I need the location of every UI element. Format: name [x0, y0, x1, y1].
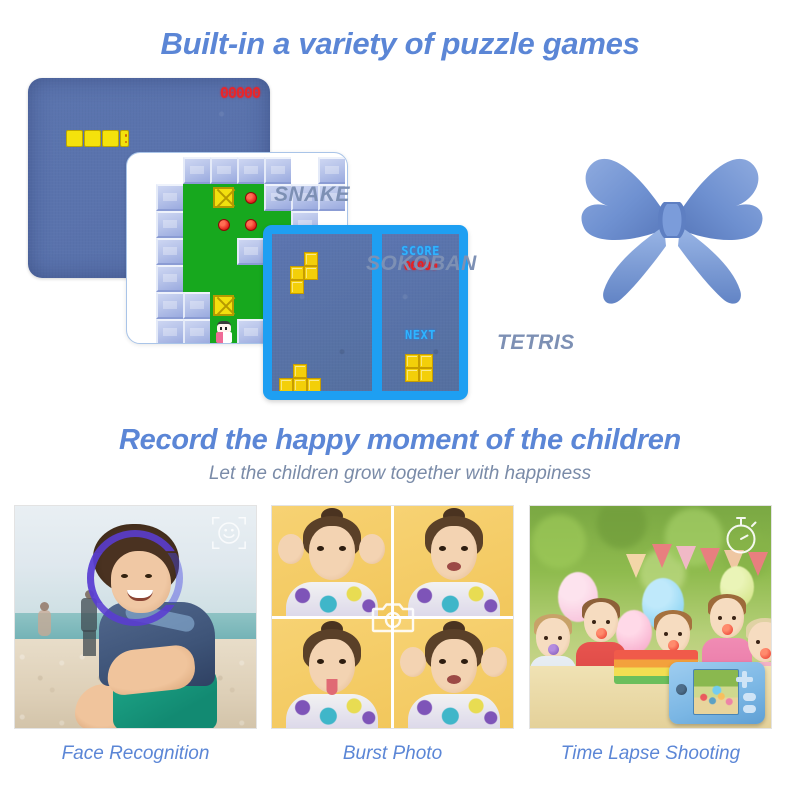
feature-cards: Face Recognition	[0, 505, 800, 795]
sokoban-crate	[213, 295, 234, 316]
grid-cell-wall	[210, 157, 237, 184]
kids-camera-device	[669, 662, 765, 724]
grid-cell-floor	[210, 319, 237, 344]
game-label-snake: SNAKE	[274, 183, 350, 207]
tetris-block	[279, 378, 293, 392]
grid-cell-floor	[183, 184, 210, 211]
grid-cell-wall	[156, 211, 183, 238]
caption-face-recognition: Face Recognition	[14, 743, 257, 765]
grid-cell-wall	[183, 319, 210, 344]
sokoban-target	[245, 192, 257, 204]
snake-score-value: 00000	[220, 84, 260, 102]
tetris-block	[304, 266, 318, 280]
device-screen-content	[694, 670, 738, 714]
grid-cell-floor	[237, 184, 264, 211]
device-lens-icon	[676, 684, 687, 695]
tetris-block	[304, 252, 318, 266]
grid-cell-floor	[237, 265, 264, 292]
grid-cell-floor	[210, 292, 237, 319]
photo-time-lapse	[529, 505, 772, 729]
snake-sprite	[66, 130, 129, 147]
snake-segment	[84, 130, 101, 147]
snake-segment	[102, 130, 119, 147]
tetris-block	[293, 364, 307, 378]
grid-cell-floor	[183, 238, 210, 265]
photo-burst	[271, 505, 514, 729]
promo-page: Built-in a variety of puzzle games 00000	[0, 0, 800, 800]
device-button[interactable]	[743, 693, 756, 701]
grid-cell-floor	[210, 265, 237, 292]
caption-burst-photo: Burst Photo	[271, 743, 514, 765]
tetris-next-block	[405, 368, 419, 382]
feature-card-face-recognition: Face Recognition	[14, 505, 257, 765]
tetris-block	[290, 266, 304, 280]
page-title-games: Built-in a variety of puzzle games	[0, 26, 800, 62]
tetris-playfield	[270, 232, 374, 393]
game-label-tetris: TETRIS	[497, 331, 575, 355]
grid-cell-floor	[210, 238, 237, 265]
tetris-next-block	[405, 354, 419, 368]
tetris-next-label: NEXT	[382, 328, 459, 342]
grid-cell-wall	[156, 184, 183, 211]
grid-cell-floor	[183, 265, 210, 292]
grid-cell-wall	[156, 319, 183, 344]
device-button[interactable]	[743, 705, 756, 713]
bow-icon	[568, 140, 778, 315]
grid-cell	[291, 157, 318, 184]
background-person-head	[40, 602, 49, 611]
tetris-block	[307, 378, 321, 392]
grid-cell-floor	[237, 211, 264, 238]
sokoban-target	[245, 219, 257, 231]
grid-cell-wall	[237, 157, 264, 184]
grid-cell-wall	[264, 157, 291, 184]
grid-cell-wall	[183, 292, 210, 319]
sokoban-target	[218, 219, 230, 231]
grid-cell-wall	[156, 238, 183, 265]
grid-cell-wall	[183, 157, 210, 184]
device-screen	[693, 669, 739, 715]
smiley-face-detect-icon	[210, 514, 248, 552]
page-title-photos: Record the happy moment of the children	[0, 424, 800, 457]
tetris-next-block	[419, 368, 433, 382]
game-label-sokoban: SOKOBAN	[366, 252, 477, 276]
feature-card-time-lapse: Time Lapse Shooting	[529, 505, 772, 765]
background-person	[38, 610, 51, 636]
grid-cell-wall	[156, 292, 183, 319]
grid-cell-floor	[210, 184, 237, 211]
snake-segment	[66, 130, 83, 147]
games-showcase: 00000	[0, 70, 800, 415]
grid-cell	[156, 157, 183, 184]
sokoban-crate	[213, 187, 234, 208]
camera-icon	[371, 599, 415, 635]
sokoban-player	[215, 321, 233, 344]
screen-texture	[272, 234, 372, 391]
stopwatch-icon	[721, 514, 761, 556]
grid-cell-wall	[318, 157, 345, 184]
grid-cell-wall	[156, 265, 183, 292]
grid-cell-floor	[183, 211, 210, 238]
page-subtitle: Let the children grow together with happ…	[0, 463, 800, 485]
grid-cell-floor	[237, 292, 264, 319]
grid-cell-floor	[210, 211, 237, 238]
tetris-next-block	[419, 354, 433, 368]
grid-cell-wall	[237, 238, 264, 265]
device-dpad[interactable]	[736, 671, 753, 688]
feature-card-burst-photo: Burst Photo	[271, 505, 514, 765]
background-person-legs	[83, 630, 96, 656]
grid-cell-wall	[237, 319, 264, 344]
tetris-block	[290, 280, 304, 294]
photo-face-recognition	[14, 505, 257, 729]
tetris-block	[293, 378, 307, 392]
snake-head	[120, 130, 129, 147]
caption-time-lapse: Time Lapse Shooting	[529, 743, 772, 765]
